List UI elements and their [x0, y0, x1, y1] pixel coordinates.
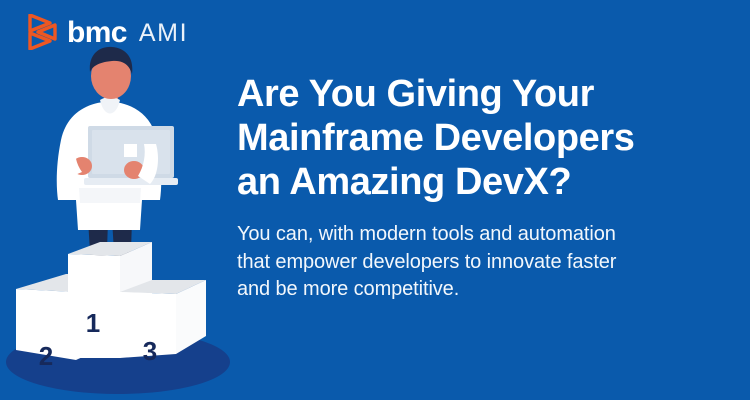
laptop-base: [84, 178, 178, 185]
podium-number-first: 1: [86, 308, 100, 338]
podium-number-third: 3: [143, 336, 157, 366]
laptop-trackpad-dot: [124, 144, 137, 157]
person-hoodie-pocket: [79, 188, 141, 203]
headline: Are You Giving Your Mainframe Developers…: [237, 72, 727, 204]
promo-copy-block: Are You Giving Your Mainframe Developers…: [237, 72, 727, 303]
podium-block-first-face: [68, 254, 120, 358]
podium-number-second: 2: [39, 341, 53, 371]
developer-on-podium-illustration: 1 2 3: [0, 40, 230, 400]
bmc-ami-promo-banner: bmc AMI: [0, 0, 750, 400]
subheadline: You can, with modern tools and automatio…: [237, 221, 727, 303]
